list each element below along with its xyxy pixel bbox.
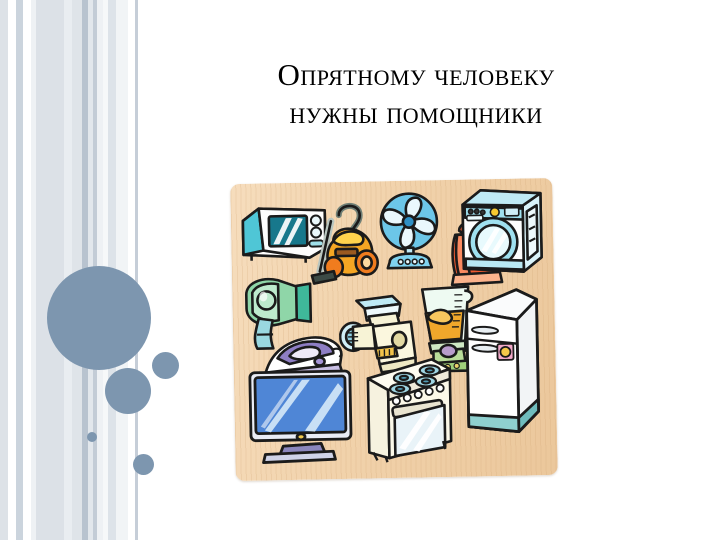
slide-title: Опрятному человеку нужны помощники (186, 56, 646, 152)
stripe (16, 0, 23, 540)
title-line-1: Опрятному человеку (277, 56, 554, 94)
appliances-picture (231, 178, 561, 483)
stripe (36, 0, 64, 540)
title-line-2: нужны помощники (289, 94, 542, 132)
stripe (0, 0, 8, 540)
vacuum-cleaner-icon (309, 200, 383, 286)
slide: Опрятному человеку нужны помощники (0, 0, 720, 540)
washing-machine-icon (456, 181, 550, 283)
circle-xsmall (133, 454, 154, 475)
circle-medium (105, 368, 151, 414)
circle-tiny (87, 432, 97, 442)
fan-icon (372, 191, 445, 270)
television-icon (246, 367, 356, 465)
decorative-vertical-stripes (0, 0, 150, 540)
stripe (64, 0, 72, 540)
stripe (8, 0, 16, 540)
stove-icon (361, 355, 455, 465)
refrigerator-icon (460, 285, 545, 445)
circle-small (152, 352, 179, 379)
stripe (23, 0, 31, 540)
circle-large (47, 266, 151, 370)
